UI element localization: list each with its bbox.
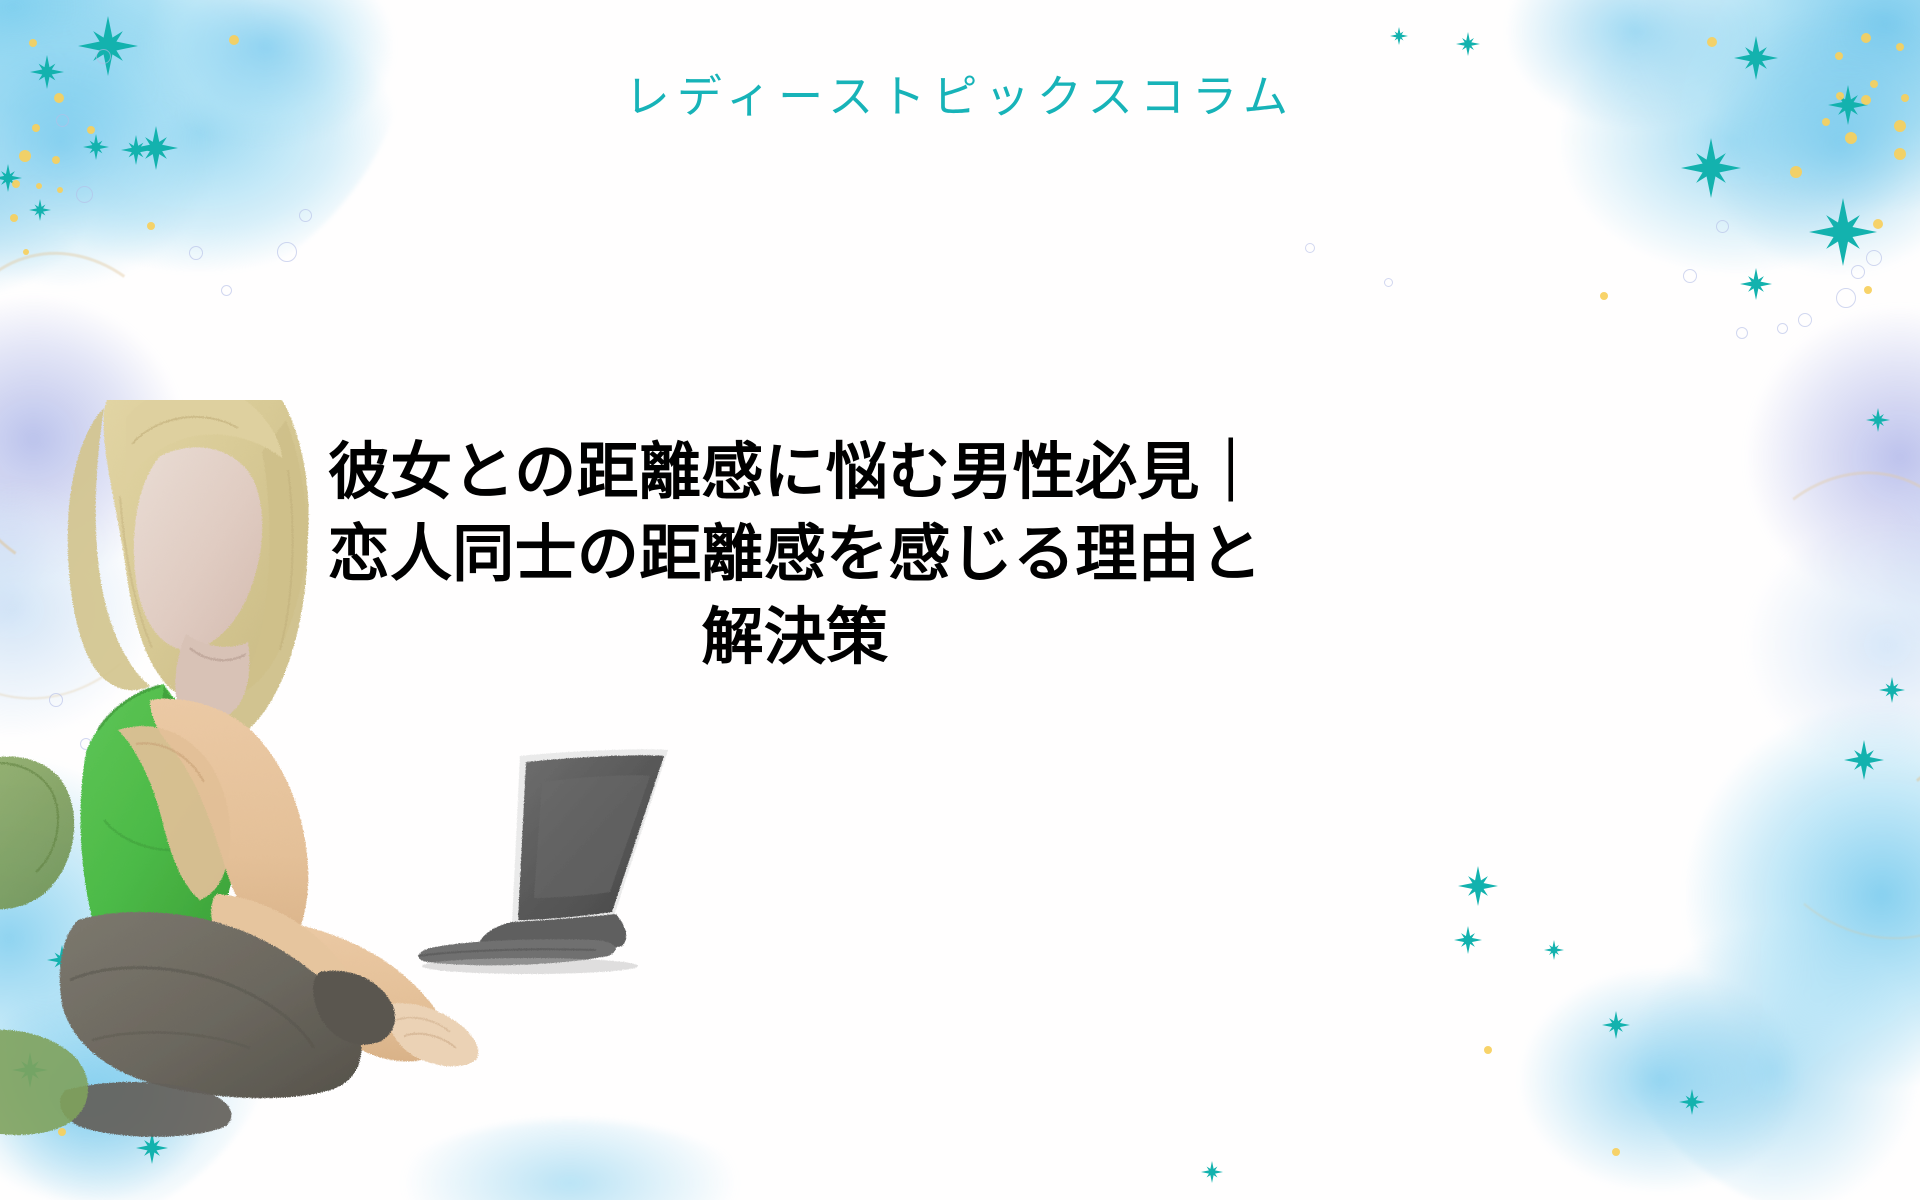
watercolor-wash-right-lower: [1690, 470, 1920, 820]
sparkle-star-icon: [1544, 940, 1564, 960]
sparkle-star-icon: [1740, 268, 1772, 300]
sparkle-star-icon: [1809, 198, 1877, 266]
gold-dot: [1861, 33, 1871, 43]
gold-dot: [36, 183, 42, 189]
gold-dot: [32, 124, 40, 132]
bubble: [96, 49, 111, 64]
sparkle-star-icon: [1879, 677, 1905, 703]
sparkle-star-icon: [1679, 1089, 1705, 1115]
watercolor-wash-top-right-inner: [1620, 0, 1920, 340]
header-label: レディーストピックスコラム: [0, 70, 1920, 124]
sparkle-star-icon: [1458, 866, 1498, 906]
eyecatch-card: レディーストピックスコラム: [0, 0, 1920, 1200]
watercolor-wash-top-left: [0, 0, 410, 330]
gold-dot: [29, 39, 37, 47]
header-text: レディーストピックスコラム: [625, 70, 1296, 124]
sparkle-star-icon: [134, 126, 178, 170]
title-line-3: 解決策: [290, 597, 1300, 679]
gold-dot: [57, 187, 63, 193]
gold-dot: [1873, 219, 1883, 229]
watercolor-wash-right-middle: [1680, 250, 1920, 700]
gold-dot: [147, 222, 155, 230]
gold-shimmer-arc: [1688, 446, 1920, 835]
gold-dot: [1894, 148, 1906, 160]
sparkle-star-icon: [0, 164, 22, 192]
gold-shimmer-arc: [1702, 538, 1920, 962]
gold-dot: [1845, 132, 1857, 144]
sparkle-star-icon: [1201, 1161, 1223, 1183]
bubble: [1777, 323, 1788, 334]
sparkle-star-icon: [29, 199, 51, 221]
bubble: [1851, 265, 1865, 279]
bubble: [1305, 243, 1315, 253]
sparkle-star-icon: [121, 135, 151, 165]
bubble: [1683, 269, 1697, 283]
gold-dot: [1707, 37, 1717, 47]
gold-dot: [229, 35, 239, 45]
bubble: [1836, 288, 1856, 308]
sparkle-star-icon: [1844, 740, 1884, 780]
sparkle-star-icon: [1602, 1011, 1630, 1039]
sparkle-star-icon: [83, 134, 109, 160]
bubble: [221, 285, 232, 296]
gold-dot: [1484, 1046, 1492, 1054]
gold-dot: [10, 214, 18, 222]
bubble: [299, 209, 312, 222]
title-line-1: 彼女との距離感に悩む男性必見｜: [290, 432, 1300, 514]
sparkle-star-icon: [1390, 27, 1408, 45]
page-title: 彼女との距離感に悩む男性必見｜ 恋人同士の距離感を感じる理由と 解決策: [290, 432, 1300, 679]
sparkle-star-icon: [1454, 926, 1482, 954]
watercolor-wash-top-left-inner: [0, 0, 310, 360]
gold-dot: [1600, 292, 1608, 300]
bubble: [189, 246, 203, 260]
bubble: [1866, 250, 1882, 266]
bubble: [277, 242, 297, 262]
bubble: [76, 186, 93, 203]
sparkle-star-icon: [1456, 32, 1480, 56]
sparkle-star-icon: [1866, 408, 1890, 432]
gold-dot: [1612, 1148, 1620, 1156]
bubble: [1798, 313, 1812, 327]
gold-dot: [1790, 166, 1802, 178]
gold-dot: [1896, 43, 1904, 51]
gold-dot: [52, 156, 60, 164]
bubble: [1384, 278, 1393, 287]
sparkle-star-icon: [1681, 138, 1741, 198]
bubble: [1716, 220, 1729, 233]
title-line-2: 恋人同士の距離感を感じる理由と: [290, 514, 1300, 596]
gold-dot: [1864, 286, 1872, 294]
sparkle-star-icon: [78, 16, 138, 76]
bubble: [1736, 327, 1748, 339]
watercolor-wash-bottom-right-2: [1480, 960, 1840, 1200]
gold-dot: [1835, 52, 1843, 60]
gold-dot: [87, 126, 95, 134]
watercolor-wash-bottom-right: [1590, 640, 1920, 1200]
gold-dot: [12, 180, 20, 188]
gold-dot: [19, 150, 31, 162]
watercolor-wash-top-right: [1500, 0, 1920, 320]
gold-dot: [23, 249, 29, 255]
